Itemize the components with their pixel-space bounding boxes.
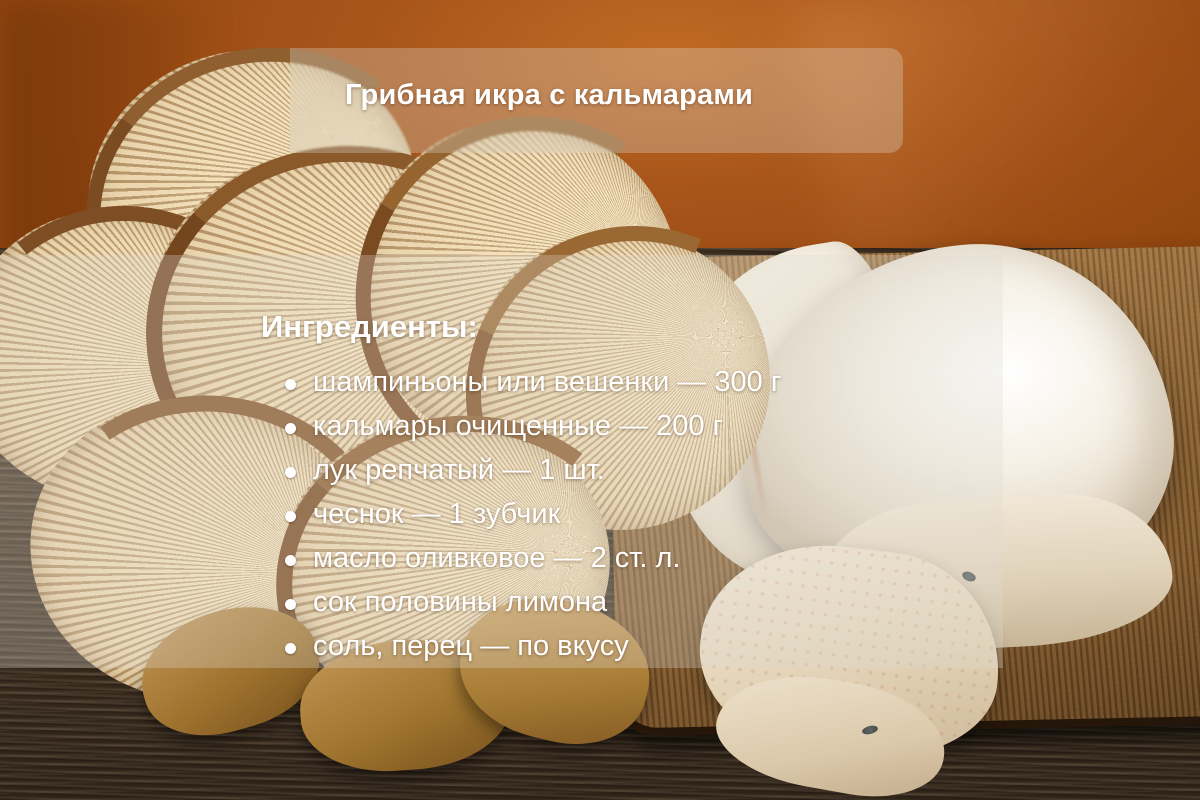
bullet-icon (285, 643, 296, 654)
ingredient-item: кальмары очищенные — 200 г (281, 404, 981, 448)
page-title: Грибная икра с кальмарами (345, 79, 885, 112)
ingredient-label: кальмары очищенные — 200 г (313, 410, 723, 442)
ingredient-label: сок половины лимона (313, 586, 607, 618)
ingredient-item: чеснок — 1 зубчик (281, 492, 981, 536)
ingredient-label: чеснок — 1 зубчик (313, 498, 560, 530)
bullet-icon (285, 599, 296, 610)
bullet-icon (285, 555, 296, 566)
ingredients-heading: Ингредиенты: (261, 309, 478, 345)
bullet-icon (285, 511, 296, 522)
bullet-icon (285, 379, 296, 390)
bullet-icon (285, 467, 296, 478)
bullet-icon (285, 423, 296, 434)
ingredient-item: сок половины лимона (281, 580, 981, 624)
ingredient-item: шампиньоны или вешенки — 300 г (281, 360, 981, 404)
ingredients-list: шампиньоны или вешенки — 300 гкальмары о… (281, 360, 981, 668)
ingredient-item: соль, перец — по вкусу (281, 624, 981, 668)
recipe-card: Грибная икра с кальмарами Ингредиенты: ш… (0, 0, 1200, 800)
ingredient-label: шампиньоны или вешенки — 300 г (313, 366, 781, 398)
ingredient-item: масло оливковое — 2 ст. л. (281, 536, 981, 580)
ingredient-item: лук репчатый — 1 шт. (281, 448, 981, 492)
ingredient-label: лук репчатый — 1 шт. (313, 454, 605, 486)
ingredient-label: масло оливковое — 2 ст. л. (313, 542, 680, 574)
ingredient-label: соль, перец — по вкусу (313, 630, 629, 662)
